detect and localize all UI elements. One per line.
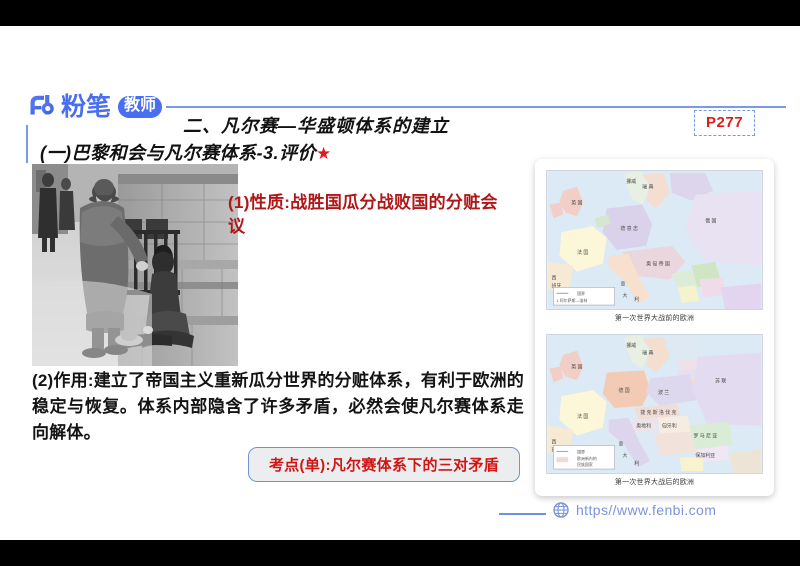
star-icon: ★: [316, 144, 332, 163]
svg-text:国界: 国界: [577, 449, 585, 454]
maps-card: 英 国 法 国 德 意 志 奥 匈 帝 国 俄 国 瑞 典 挪威 意 大 利 西…: [535, 159, 774, 496]
page-title: 二、凡尔赛—华盛顿体系的建立: [183, 112, 449, 138]
footer-divider-line: [499, 513, 546, 515]
svg-text:罗 马 尼 亚: 罗 马 尼 亚: [693, 433, 717, 440]
svg-text:德 意 志: 德 意 志: [620, 225, 638, 232]
svg-text:意: 意: [620, 280, 625, 287]
footer-url[interactable]: https//www.fenbi.com: [576, 502, 716, 518]
brand-logo: 粉笔 教师: [26, 92, 162, 122]
svg-text:捷 克 斯 洛 伐 克: 捷 克 斯 洛 伐 克: [640, 409, 676, 416]
map-europe-after-wwi: 英 国 法 国 德 国 波 兰 苏 联 捷 克 斯 洛 伐 克 奥地利 匈牙利 …: [546, 334, 763, 474]
svg-text:法 国: 法 国: [577, 249, 588, 256]
svg-text:1 阿尔萨斯—洛林: 1 阿尔萨斯—洛林: [556, 298, 587, 303]
svg-text:英 国: 英 国: [571, 200, 582, 207]
svg-text:俄 国: 俄 国: [705, 217, 716, 224]
effect-paragraph-text: (2)作用:建立了帝国主义重新瓜分世界的分赃体系，有利于欧洲的稳定与恢复。体系内…: [32, 368, 524, 445]
page-subtitle: (一)巴黎和会与凡尔赛体系-3.评价★: [40, 139, 332, 165]
svg-text:欧洲新内的: 欧洲新内的: [577, 456, 597, 461]
svg-text:法 国: 法 国: [577, 413, 588, 420]
slide-root: 粉笔 教师 二、凡尔赛—华盛顿体系的建立 (一)巴黎和会与凡尔赛体系-3.评价★…: [0, 0, 800, 566]
left-accent-line: [26, 125, 28, 163]
header-divider-line: [166, 106, 786, 108]
map-caption-prewar: 第一次世界大战前的欧洲: [546, 313, 763, 323]
keypoint-text: 考点(单):凡尔赛体系下的三对矛盾: [269, 454, 499, 475]
svg-text:奥地利: 奥地利: [636, 423, 651, 430]
svg-text:大: 大: [622, 452, 627, 459]
svg-text:西: 西: [551, 439, 556, 445]
map-caption-postwar: 第一次世界大战后的欧洲: [546, 477, 763, 487]
svg-text:大: 大: [622, 292, 627, 299]
svg-text:波 兰: 波 兰: [658, 389, 669, 396]
footer: https//www.fenbi.com: [553, 502, 716, 518]
svg-text:民族国家: 民族国家: [577, 462, 593, 467]
svg-text:奥 匈 帝 国: 奥 匈 帝 国: [646, 261, 670, 268]
historical-photo: [32, 164, 238, 366]
svg-text:苏 联: 苏 联: [715, 377, 726, 384]
svg-text:西: 西: [551, 275, 556, 281]
map-block-prewar: 英 国 法 国 德 意 志 奥 匈 帝 国 俄 国 瑞 典 挪威 意 大 利 西…: [546, 170, 763, 323]
svg-text:英 国: 英 国: [571, 364, 582, 371]
globe-icon: [553, 502, 569, 518]
map-europe-before-wwi: 英 国 法 国 德 意 志 奥 匈 帝 国 俄 国 瑞 典 挪威 意 大 利 西…: [546, 170, 763, 310]
svg-text:德 国: 德 国: [619, 387, 630, 394]
page-number-badge: P277: [694, 110, 755, 136]
letterbox-top: [0, 0, 800, 26]
svg-text:意: 意: [619, 440, 624, 447]
svg-text:瑞 典: 瑞 典: [642, 184, 653, 191]
svg-text:利: 利: [634, 296, 639, 303]
map-block-postwar: 英 国 法 国 德 国 波 兰 苏 联 捷 克 斯 洛 伐 克 奥地利 匈牙利 …: [546, 334, 763, 487]
brand-badge: 教师: [118, 96, 162, 118]
nature-note-text: (1)性质:战胜国瓜分战败国的分赃会议: [228, 191, 498, 239]
fb-logo-icon: [26, 92, 56, 122]
keypoint-callout-box: 考点(单):凡尔赛体系下的三对矛盾: [248, 447, 520, 482]
svg-text:匈牙利: 匈牙利: [662, 423, 677, 430]
svg-text:利: 利: [634, 460, 639, 467]
brand-word: 粉笔: [61, 95, 111, 120]
page-subtitle-text: (一)巴黎和会与凡尔赛体系-3.评价: [40, 143, 316, 163]
svg-text:瑞 典: 瑞 典: [642, 350, 653, 357]
letterbox-bottom: [0, 540, 800, 566]
svg-text:挪威: 挪威: [626, 342, 636, 349]
svg-text:国界: 国界: [577, 291, 585, 296]
svg-text:挪威: 挪威: [626, 178, 636, 185]
slide-page: 粉笔 教师 二、凡尔赛—华盛顿体系的建立 (一)巴黎和会与凡尔赛体系-3.评价★…: [0, 26, 800, 540]
svg-text:保加利亚: 保加利亚: [695, 452, 715, 459]
